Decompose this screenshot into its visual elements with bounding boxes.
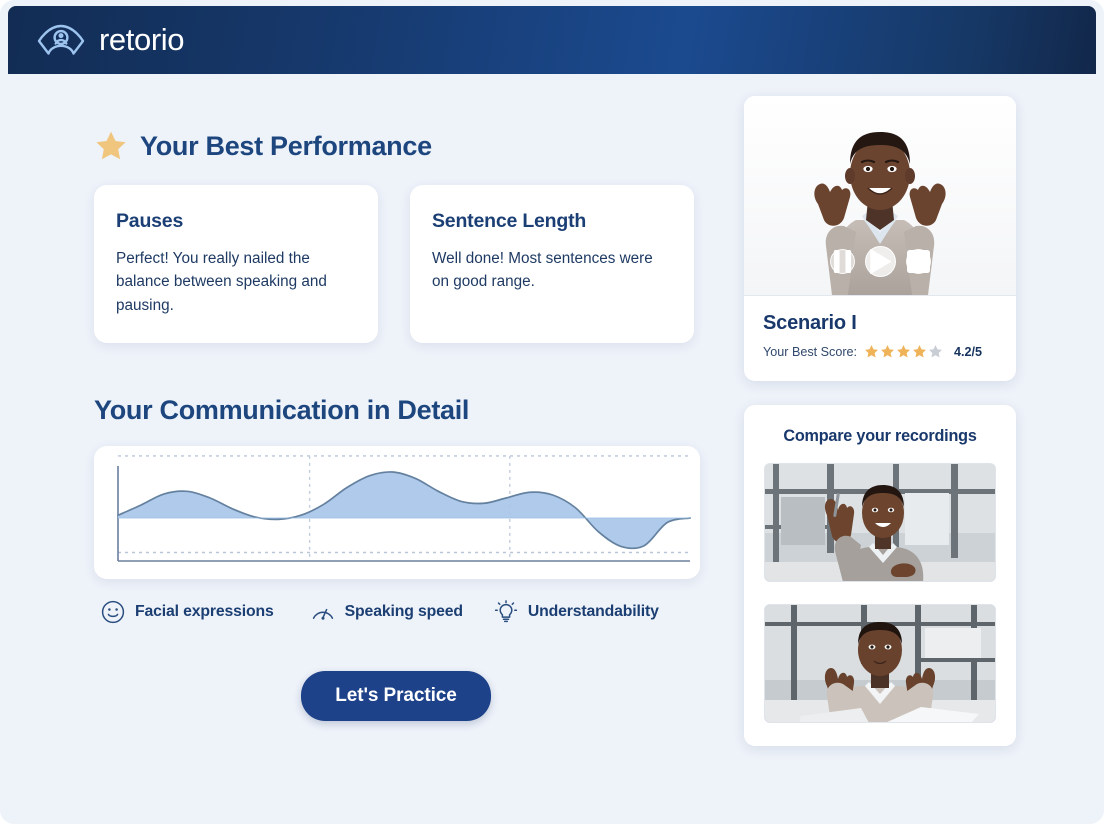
star-icon	[94, 129, 128, 163]
brand-logo[interactable]: retorio	[34, 19, 184, 61]
legend-label: Understandability	[528, 603, 659, 621]
legend-label: Speaking speed	[345, 603, 463, 621]
page-body: Your Best Performance Pauses Perfect! Yo…	[8, 74, 1096, 816]
legend-item-speaking-speed[interactable]: Speaking speed	[310, 599, 463, 625]
chart-legend: Facial expressions Speaking speed	[94, 599, 712, 625]
communication-area-chart	[94, 446, 700, 579]
compare-title: Compare your recordings	[764, 427, 996, 446]
recording-thumbnail-1[interactable]	[764, 463, 996, 582]
scenario-meta: Scenario I Your Best Score: 4.2/5	[744, 295, 1016, 381]
video-controls	[744, 246, 1016, 277]
metric-card-pauses: Pauses Perfect! You really nailed the ba…	[94, 185, 378, 343]
communication-detail-title: Your Communication in Detail	[94, 395, 712, 426]
communication-chart-card	[94, 446, 700, 579]
metric-card-title: Pauses	[116, 210, 354, 233]
metric-card-sentence-length: Sentence Length Well done! Most sentence…	[410, 185, 694, 343]
scenario-title: Scenario I	[763, 312, 997, 335]
left-column: Your Best Performance Pauses Perfect! Yo…	[94, 129, 712, 721]
smiley-face-icon	[100, 599, 126, 625]
stop-button[interactable]	[906, 249, 931, 274]
page-title: Your Best Performance	[140, 131, 432, 162]
brand-name: retorio	[99, 24, 184, 57]
app-header: retorio	[8, 6, 1096, 74]
recording-thumbnail-2[interactable]	[764, 604, 996, 723]
metric-cards-row: Pauses Perfect! You really nailed the ba…	[94, 185, 712, 343]
legend-label: Facial expressions	[135, 603, 274, 621]
compare-recordings-card: Compare your recordings	[744, 405, 1016, 746]
legend-item-facial-expressions[interactable]: Facial expressions	[100, 599, 274, 625]
metric-card-text: Perfect! You really nailed the balance b…	[116, 247, 354, 317]
score-value: 4.2/5	[954, 345, 982, 359]
star-icon	[896, 344, 911, 359]
scenario-video-thumbnail[interactable]	[744, 96, 1016, 295]
legend-item-understandability[interactable]: Understandability	[493, 599, 659, 625]
lets-practice-button[interactable]: Let's Practice	[301, 671, 490, 721]
pause-button[interactable]	[830, 249, 855, 274]
star-icon	[864, 344, 879, 359]
metric-card-title: Sentence Length	[432, 210, 670, 233]
score-row: Your Best Score: 4.2/5	[763, 344, 997, 359]
star-icon	[912, 344, 927, 359]
score-label: Your Best Score:	[763, 345, 857, 359]
scenario-video-card: Scenario I Your Best Score: 4.2/5	[744, 96, 1016, 381]
eye-person-logo-icon	[34, 19, 88, 61]
speedometer-gauge-icon	[310, 599, 336, 625]
play-button[interactable]	[865, 246, 896, 277]
star-icon	[880, 344, 895, 359]
star-rating	[864, 344, 943, 359]
lightbulb-icon	[493, 599, 519, 625]
right-column: Scenario I Your Best Score: 4.2/5 Compar…	[744, 96, 1016, 746]
best-performance-header: Your Best Performance	[94, 129, 712, 163]
star-icon	[928, 344, 943, 359]
practice-button-wrap: Let's Practice	[94, 671, 712, 721]
metric-card-text: Well done! Most sentences were on good r…	[432, 247, 670, 294]
app-root: retorio Your Best Performance Pauses Per…	[0, 0, 1104, 824]
